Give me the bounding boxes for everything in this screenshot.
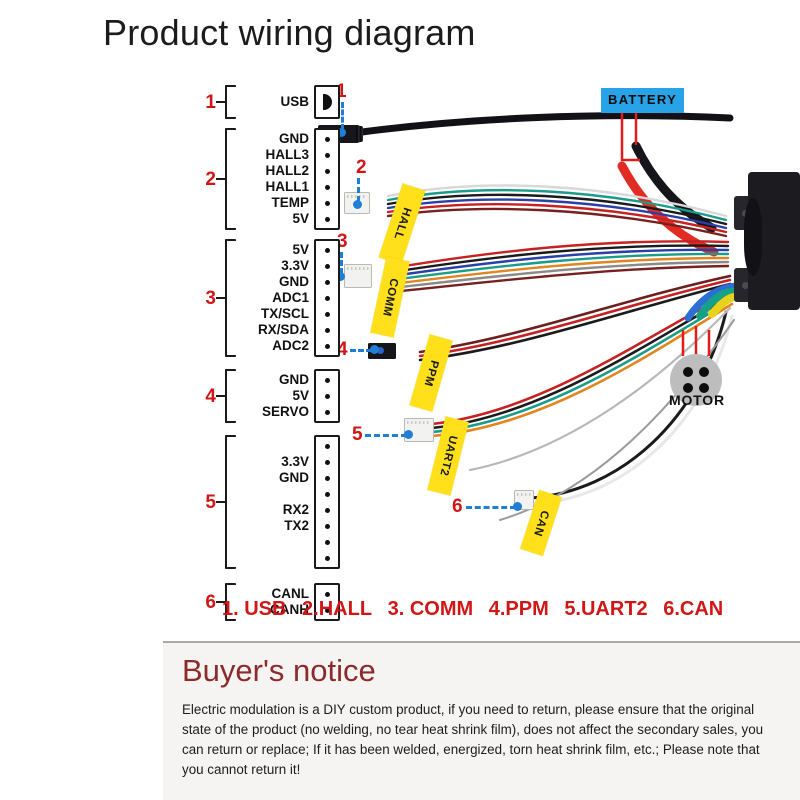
callout-3-leader	[340, 252, 343, 274]
pin-group-1-number: 1	[200, 93, 216, 112]
header-pin	[325, 394, 330, 399]
controller-cable-gland	[744, 198, 762, 276]
pin-group-4-labels: GND 5V SERVO	[236, 372, 314, 420]
pin-group-5-tick	[216, 501, 225, 503]
flag-uart2-text: UART2	[437, 434, 459, 477]
legend-item-hall: 2.HALL	[302, 598, 372, 620]
header-pin	[325, 592, 330, 597]
callout-5-leader	[365, 434, 407, 437]
pin-label: HALL3	[266, 147, 310, 163]
pin-group-3-bracket	[225, 239, 236, 357]
header-pin	[325, 185, 330, 190]
pin-group-1-tick	[216, 101, 225, 103]
legend-item-uart2: 5.UART2	[564, 598, 647, 620]
flag-ppm: PPM	[409, 334, 452, 412]
pin-group-3-tick	[216, 297, 225, 299]
header-pin	[325, 460, 330, 465]
comm-connector	[344, 264, 372, 288]
page-title: Product wiring diagram	[103, 12, 476, 54]
pin-label: 5V	[292, 388, 309, 404]
pin-label: GND	[279, 274, 309, 290]
pin-label: 5V	[292, 242, 309, 258]
callout-4-leader	[350, 349, 372, 352]
header-pin	[325, 476, 330, 481]
pin-group-4-tick	[216, 395, 225, 397]
pin-group-5-bracket	[225, 435, 236, 569]
buyers-notice-body: Electric modulation is a DIY custom prod…	[182, 700, 782, 780]
pin-header-2	[314, 128, 340, 230]
pin-group-1-bracket	[225, 85, 236, 119]
header-pin	[325, 312, 330, 317]
header-pin	[325, 169, 330, 174]
legend-row: 1. USB 2.HALL 3. COMM 4.PPM 5.UART2 6.CA…	[222, 598, 733, 621]
header-pin	[325, 410, 330, 415]
legend-item-usb: 1. USB	[222, 598, 286, 620]
header-pin	[325, 264, 330, 269]
pin-group-2: 2 GND HALL3 HALL2 HALL1 TEMP 5V	[200, 128, 340, 230]
pin-group-6-number: 6	[200, 593, 216, 612]
pin-header-5	[314, 435, 340, 569]
buyers-notice-title: Buyer's notice	[182, 653, 376, 689]
flag-ppm-text: PPM	[422, 358, 441, 387]
usb-plug-grip	[356, 126, 363, 142]
pin-group-4-bracket	[225, 369, 236, 423]
pin-group-4-number: 4	[200, 387, 216, 406]
callout-6-dot	[513, 502, 522, 511]
pin-group-2-bracket	[225, 128, 236, 230]
header-pin	[325, 248, 330, 253]
pin-label: GND	[279, 372, 309, 388]
flag-comm: COMM	[370, 256, 410, 337]
pin-label: .	[305, 438, 309, 454]
pin-group-5: 5 . 3.3V GND . RX2 TX2 . .	[200, 435, 340, 569]
header-pin	[325, 328, 330, 333]
pin-group-3: 3 5V 3.3V GND ADC1 TX/SCL RX/SDA ADC2	[200, 239, 340, 357]
header-pin	[325, 153, 330, 158]
pin-group-2-labels: GND HALL3 HALL2 HALL1 TEMP 5V	[236, 131, 314, 227]
battery-label-text: BATTERY	[608, 92, 677, 107]
header-pin	[325, 201, 330, 206]
pin-label: GND	[279, 470, 309, 486]
pin-group-5-labels: . 3.3V GND . RX2 TX2 . .	[236, 438, 314, 566]
header-pin	[325, 508, 330, 513]
pin-label: 5V	[292, 211, 309, 227]
callout-4-dot	[370, 345, 379, 354]
callout-2-dot	[353, 200, 362, 209]
pin-label: .	[305, 534, 309, 550]
header-pin	[325, 296, 330, 301]
pin-label: TX2	[284, 518, 309, 534]
pin-label: 3.3V	[281, 454, 309, 470]
pin-group-5-number: 5	[200, 493, 216, 512]
flag-can-text: CAN	[531, 508, 551, 537]
callout-6-leader	[466, 506, 516, 509]
header-pin	[325, 492, 330, 497]
pin-label: RX/SDA	[258, 322, 309, 338]
pin-label: .	[305, 486, 309, 502]
legend-item-comm: 3. COMM	[388, 598, 474, 620]
pin-label: SERVO	[262, 404, 309, 420]
usb-port-shape	[323, 94, 332, 110]
pin-label: RX2	[283, 502, 309, 518]
pin-group-2-tick	[216, 178, 225, 180]
legend-item-can: 6.CAN	[663, 598, 723, 620]
flag-hall: HALL	[379, 183, 426, 265]
pin-group-3-labels: 5V 3.3V GND ADC1 TX/SCL RX/SDA ADC2	[236, 242, 314, 354]
header-pin	[325, 540, 330, 545]
callout-2-leader	[357, 178, 360, 202]
pin-label: 3.3V	[281, 258, 309, 274]
header-pin	[325, 556, 330, 561]
pin-header-3	[314, 239, 340, 357]
header-pin	[325, 344, 330, 349]
pin-label: GND	[279, 131, 309, 147]
pin-group-3-number: 3	[200, 289, 216, 308]
usb-port-graphic	[314, 85, 340, 119]
flag-hall-text: HALL	[391, 206, 413, 241]
pin-label: ADC2	[272, 338, 309, 354]
pin-header-4	[314, 369, 340, 423]
battery-label: BATTERY	[601, 88, 684, 113]
callout-6-number: 6	[452, 497, 463, 516]
callout-2-number: 2	[356, 158, 367, 177]
header-pin	[325, 524, 330, 529]
pin-label: ADC1	[272, 290, 309, 306]
header-pin	[325, 378, 330, 383]
header-pin	[325, 217, 330, 222]
pin-label: TX/SCL	[261, 306, 309, 322]
legend-item-ppm: 4.PPM	[489, 598, 549, 620]
pin-group-1-labels: USB	[236, 94, 314, 110]
pin-label: TEMP	[271, 195, 309, 211]
pin-label: HALL2	[266, 163, 310, 179]
callout-1-leader	[341, 102, 344, 130]
pin-header-column: 1 USB 2 GND HALL3 HALL2 HALL1 TEMP 5V	[200, 85, 340, 621]
header-pin	[325, 137, 330, 142]
motor-label: MOTOR	[669, 392, 725, 408]
pin-label: USB	[280, 94, 309, 110]
flag-comm-text: COMM	[380, 277, 400, 317]
section-divider	[163, 641, 800, 643]
callout-5-dot	[404, 430, 413, 439]
header-pin	[325, 280, 330, 285]
pin-group-2-number: 2	[200, 170, 216, 189]
callout-5-number: 5	[352, 425, 363, 444]
pin-group-4: 4 GND 5V SERVO	[200, 369, 340, 423]
wiring-diagram-page: Product wiring diagram	[0, 0, 800, 800]
pin-label: .	[305, 550, 309, 566]
pin-group-1: 1 USB	[200, 85, 340, 119]
pin-label: HALL1	[266, 179, 310, 195]
header-pin	[325, 444, 330, 449]
